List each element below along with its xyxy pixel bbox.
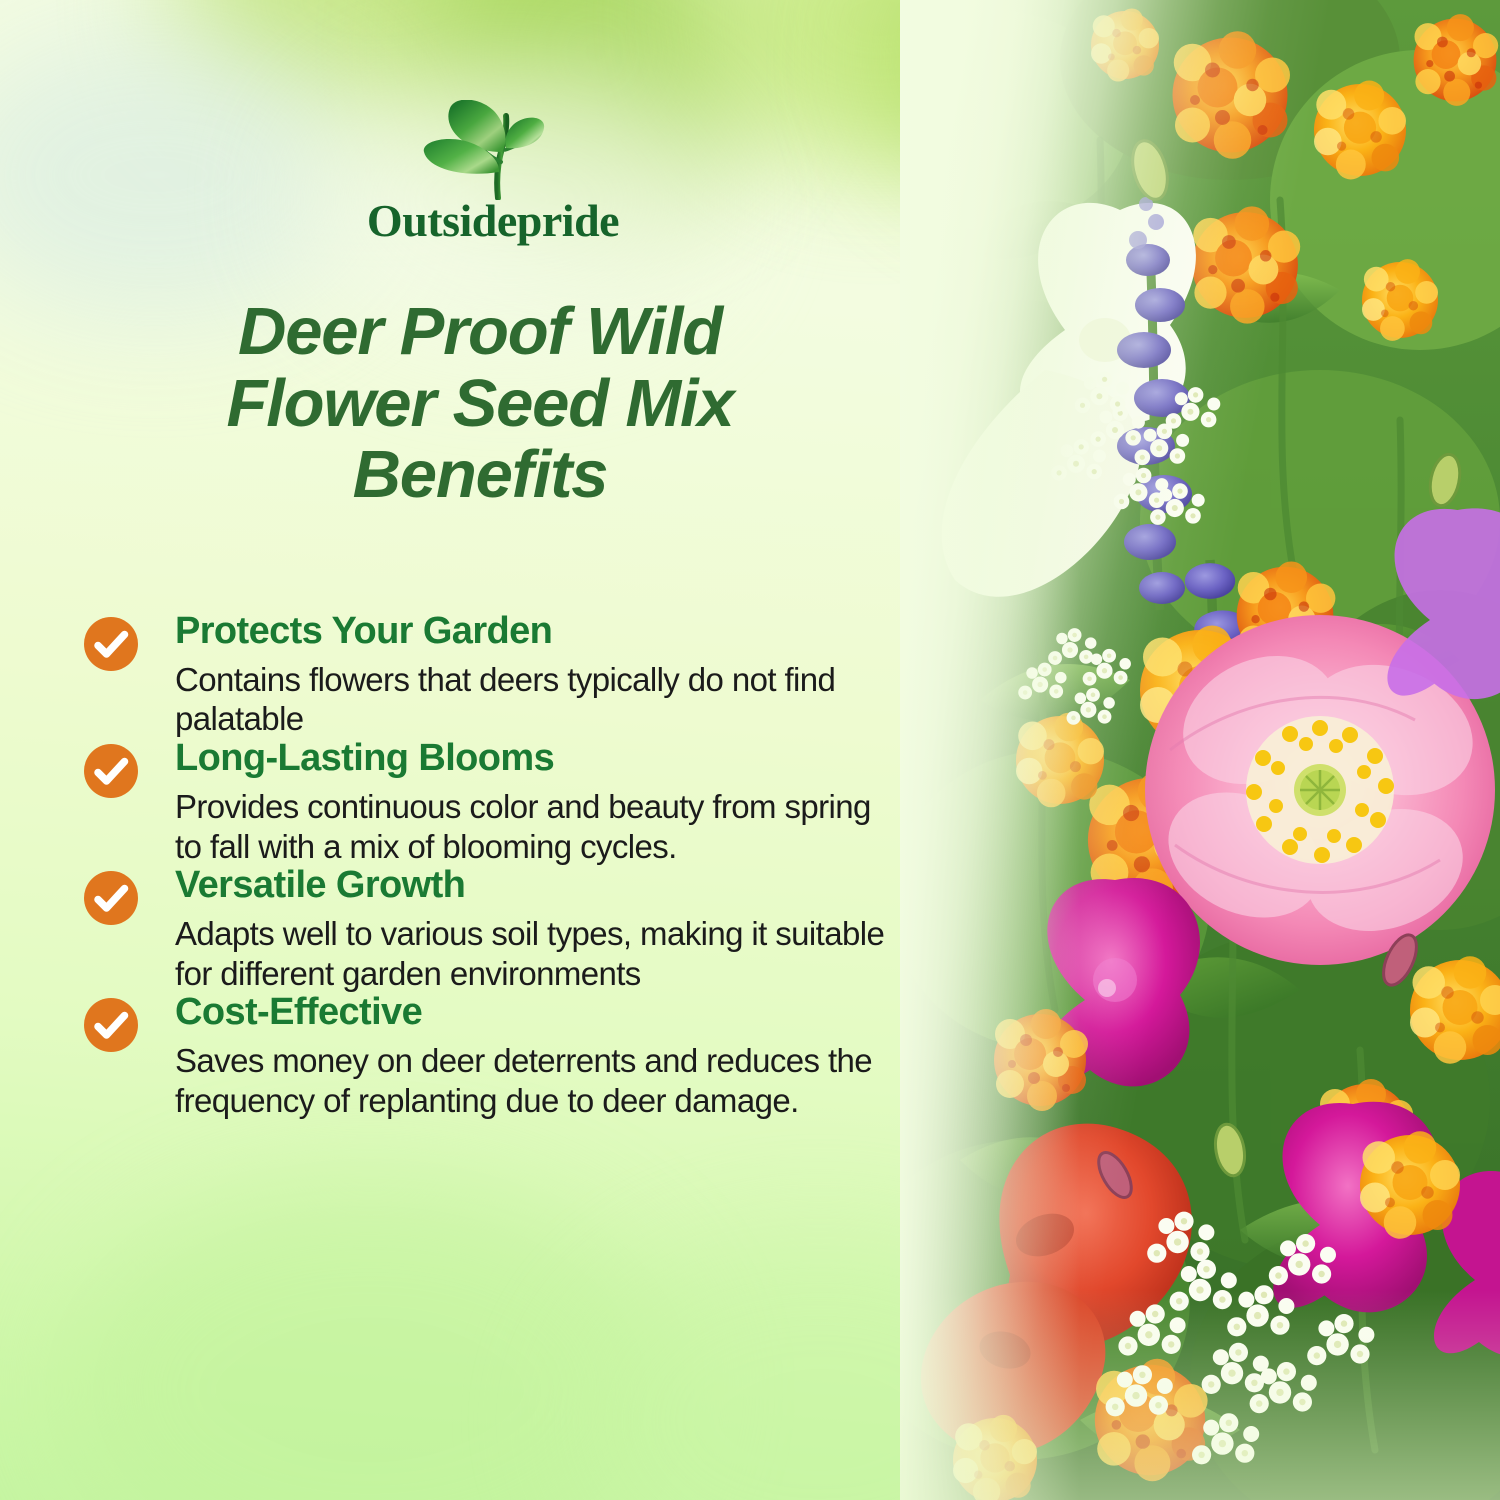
- benefit-item-cost-effective: Cost-Effective Saves money on deer deter…: [83, 993, 913, 1120]
- benefit-title: Cost-Effective: [175, 993, 913, 1033]
- benefit-description: Adapts well to various soil types, makin…: [175, 914, 905, 993]
- benefit-title: Versatile Growth: [175, 866, 913, 906]
- check-circle-icon: [83, 743, 139, 799]
- wildflower-meadow-photo: [900, 0, 1500, 1500]
- benefit-title: Long-Lasting Blooms: [175, 739, 913, 779]
- benefit-item-versatile-growth: Versatile Growth Adapts well to various …: [83, 866, 913, 993]
- check-circle-icon: [83, 616, 139, 672]
- benefit-title: Protects Your Garden: [175, 612, 913, 652]
- benefit-description: Contains flowers that deers typically do…: [175, 660, 905, 739]
- brand-logo[interactable]: Outsidepride: [283, 100, 703, 260]
- sprout-leaves-icon: [283, 100, 703, 200]
- check-circle-icon: [83, 870, 139, 926]
- benefits-list: Protects Your Garden Contains flowers th…: [83, 612, 913, 1120]
- photo-artwork: [900, 0, 1500, 1500]
- benefit-description: Provides continuous color and beauty fro…: [175, 787, 905, 866]
- brand-wordmark: Outsidepride: [283, 198, 703, 244]
- page-title-line-1: Deer Proof Wild: [60, 296, 900, 368]
- check-circle-icon: [83, 997, 139, 1053]
- benefit-item-long-lasting-blooms: Long-Lasting Blooms Provides continuous …: [83, 739, 913, 866]
- page-title: Deer Proof Wild Flower Seed Mix Benefits: [60, 296, 900, 511]
- benefit-item-protects-your-garden: Protects Your Garden Contains flowers th…: [83, 612, 913, 739]
- page-title-line-2: Flower Seed Mix: [60, 368, 900, 440]
- page-title-line-3: Benefits: [60, 439, 900, 511]
- infographic-canvas: Outsidepride Deer Proof Wild Flower Seed…: [0, 0, 1500, 1500]
- benefit-description: Saves money on deer deterrents and reduc…: [175, 1041, 905, 1120]
